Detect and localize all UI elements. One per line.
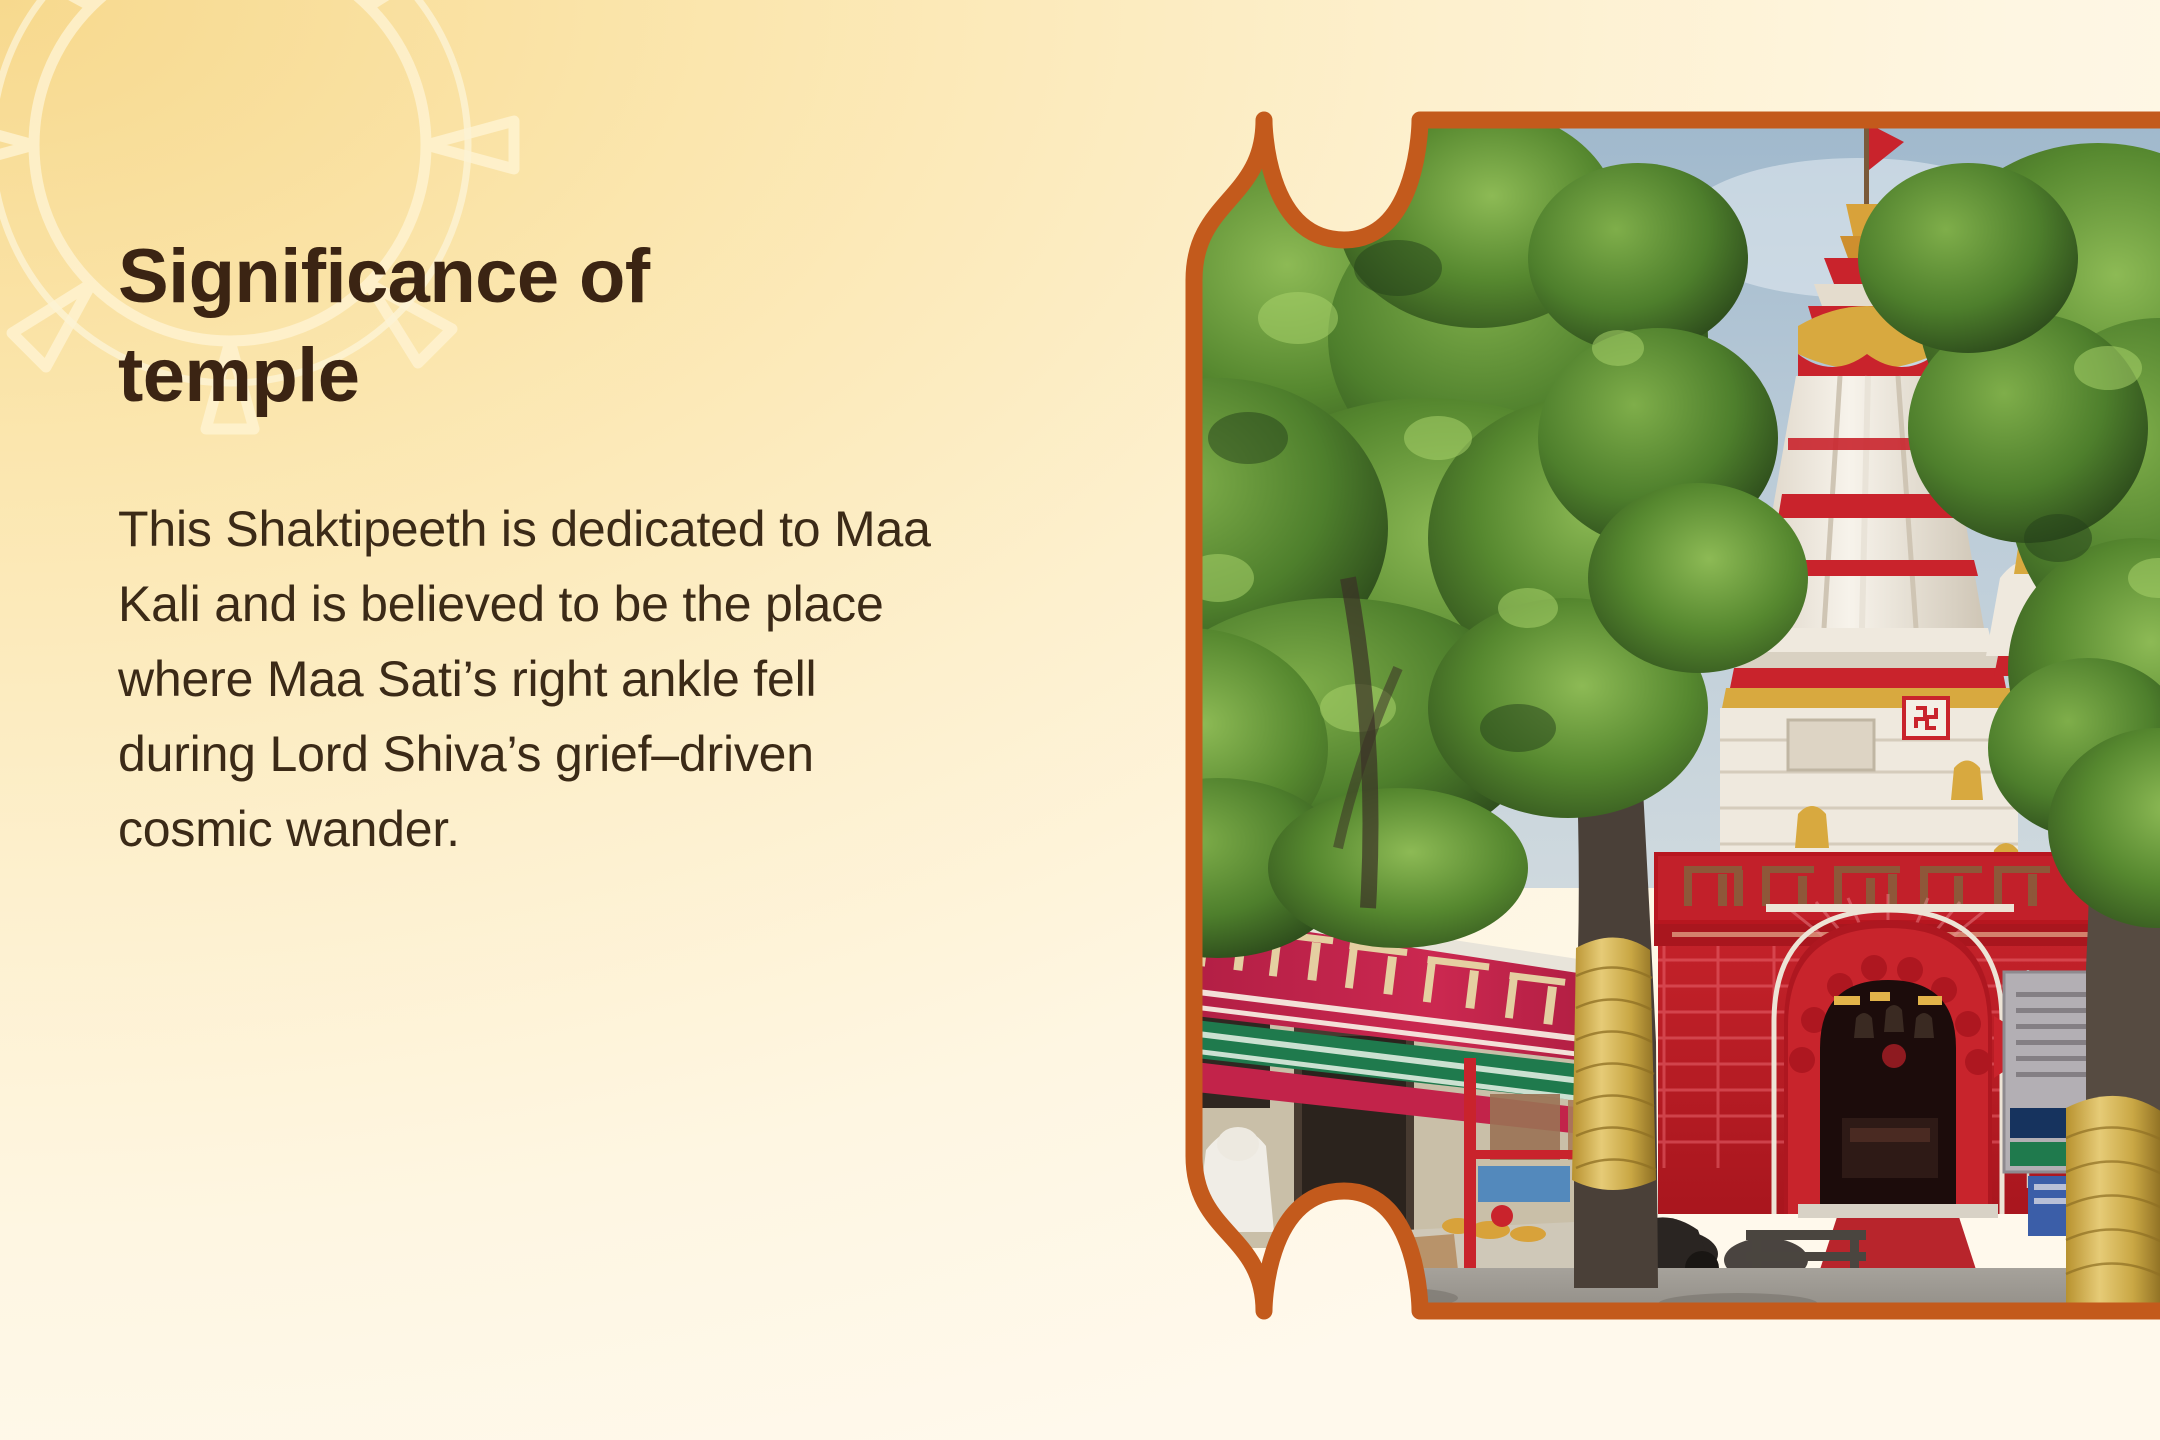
temple-photo-image [1098,108,2160,1323]
body-paragraph: This Shaktipeeth is dedicated to Maa Kal… [118,492,948,867]
temple-photo-frame [1098,108,2160,1323]
slide-root: Significance of temple This Shaktipeeth … [0,0,2160,1440]
page-title: Significance of temple [118,228,818,426]
text-column: Significance of temple This Shaktipeeth … [118,228,978,867]
